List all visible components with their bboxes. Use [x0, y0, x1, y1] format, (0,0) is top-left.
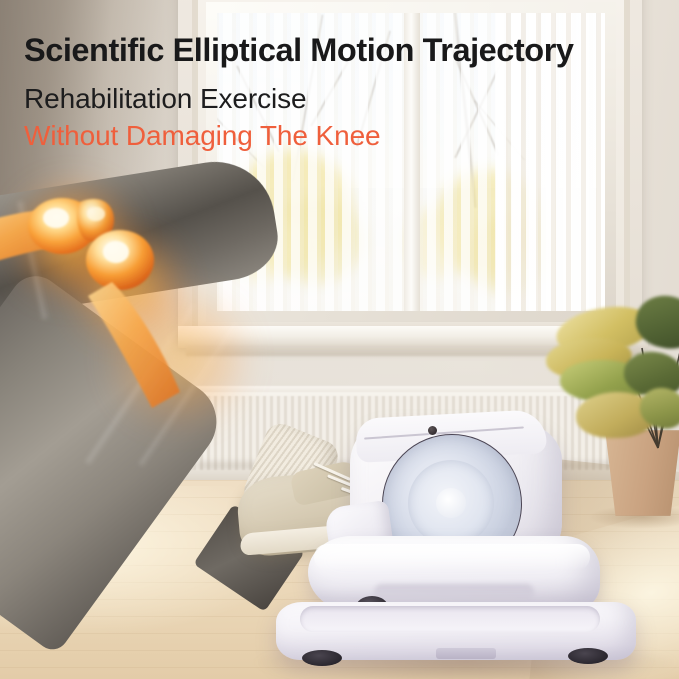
- pedal-lip: [314, 544, 590, 570]
- pedal-notch: [374, 584, 534, 600]
- housing-screw-icon: [428, 426, 437, 435]
- flywheel-hub: [436, 488, 466, 518]
- base-rubber-foot: [568, 648, 608, 664]
- base-tab: [436, 648, 496, 659]
- product-marketing-image: Scientific Elliptical Motion Trajectory …: [0, 0, 679, 679]
- base-plate-inset: [300, 606, 600, 632]
- under-desk-elliptical[interactable]: [160, 408, 580, 670]
- base-rubber-foot: [302, 650, 342, 666]
